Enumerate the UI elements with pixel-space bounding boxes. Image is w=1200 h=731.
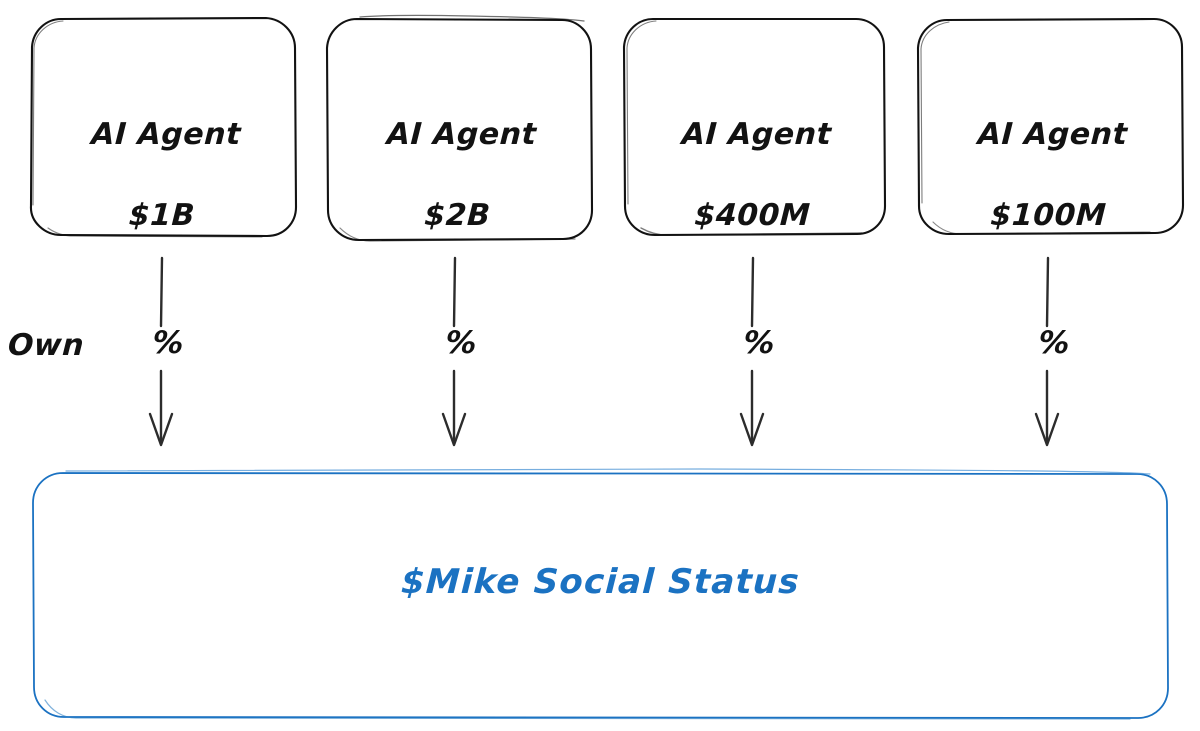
agent-box-2-label: AI Agent $2B (322, 74, 598, 278)
agent-box-3-label: AI Agent $400M (619, 74, 891, 278)
percent-label-2: % (438, 328, 484, 359)
percent-label-4: % (1031, 328, 1077, 359)
agent-box-3-line2: $400M (621, 196, 884, 237)
agent-box-2-line1: AI Agent (328, 115, 595, 156)
agent-box-1-line1: AI Agent (32, 115, 300, 156)
percent-label-1: % (145, 328, 191, 359)
agent-box-1-label: AI Agent $1B (26, 74, 303, 278)
agent-box-4-label: AI Agent $100M (913, 74, 1189, 278)
agent-box-3-line1: AI Agent (625, 115, 888, 156)
social-status-label: $Mike Social Status (32, 562, 1169, 602)
agent-box-4-line2: $100M (915, 196, 1182, 237)
agent-box-2-line2: $2B (324, 196, 591, 237)
agent-box-4-line1: AI Agent (919, 115, 1186, 156)
own-edge-label: Own (7, 328, 109, 363)
agent-box-1-line2: $1B (28, 196, 296, 237)
percent-label-3: % (736, 328, 782, 359)
diagram-canvas: AI Agent $1B AI Agent $2B AI Agent $400M… (0, 0, 1200, 731)
